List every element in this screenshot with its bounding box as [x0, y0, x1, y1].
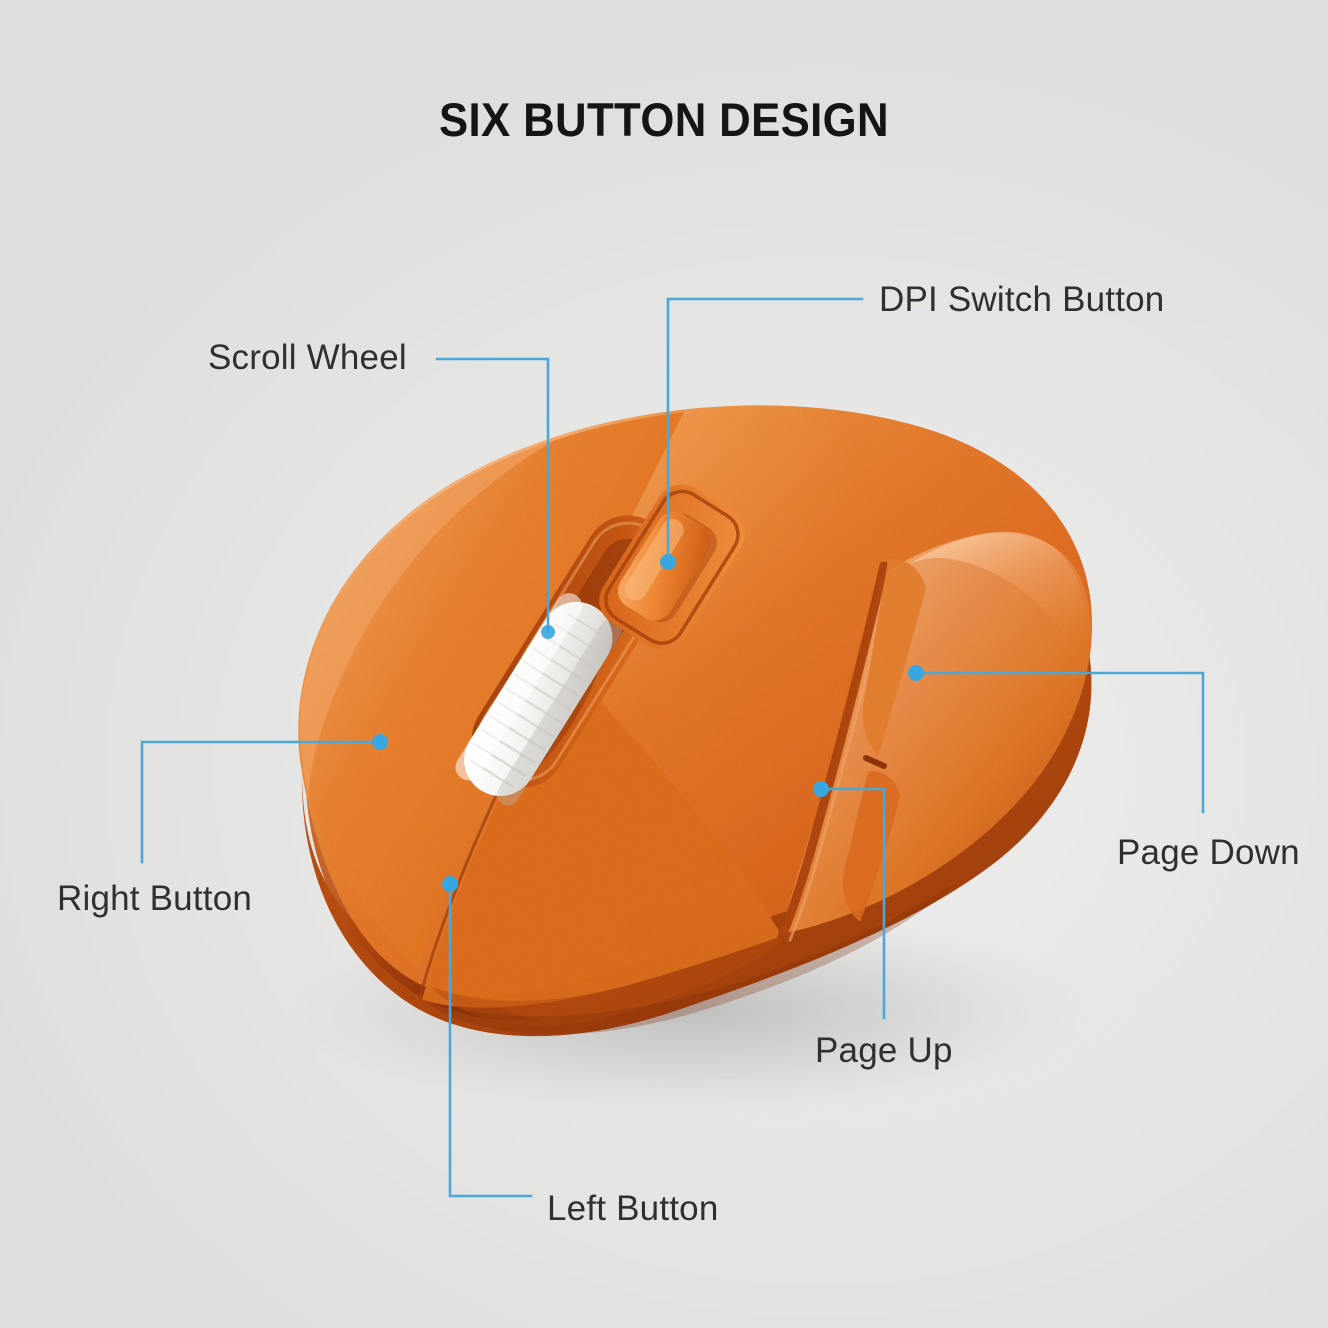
callout-label-left-button: Left Button: [547, 1189, 719, 1229]
callout-label-page-up: Page Up: [815, 1031, 953, 1071]
callout-label-dpi-switch-button: DPI Switch Button: [879, 280, 1164, 320]
callout-label-scroll-wheel: Scroll Wheel: [208, 338, 407, 378]
mouse-illustration: [0, 0, 1328, 1328]
callout-label-right-button: Right Button: [57, 879, 252, 919]
callout-label-page-down: Page Down: [1117, 833, 1300, 873]
product-diagram-canvas: SIX BUTTON DESIGN: [0, 0, 1328, 1328]
